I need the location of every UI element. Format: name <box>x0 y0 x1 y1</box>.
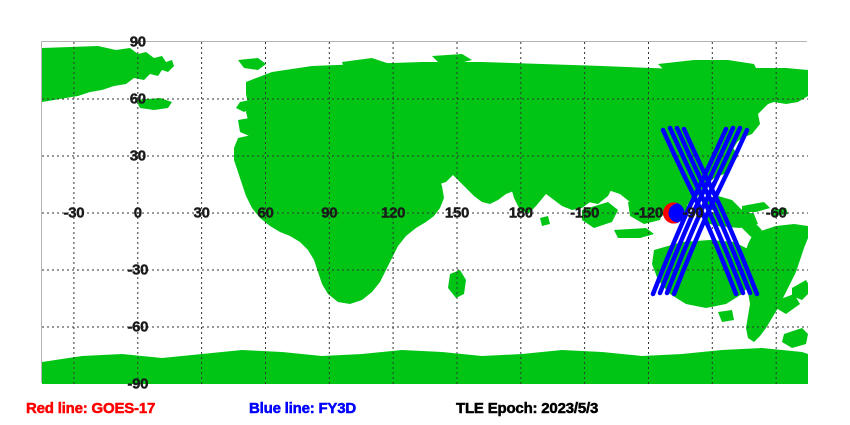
lat-tick--90: -90 <box>127 377 148 392</box>
legend-red-line-goes17: Red line: GOES-17 <box>26 401 155 416</box>
lon-tick--90: -90 <box>683 206 704 221</box>
lat-tick-90: 90 <box>130 35 146 50</box>
lat-tick-30: 30 <box>130 149 146 164</box>
goes17-marker-group <box>663 203 684 224</box>
lat-tick-60: 60 <box>130 92 146 107</box>
map-page: 90 60 30 0 -30 -60 -90 -30 30 60 90 120 … <box>0 0 850 425</box>
world-map-panel: 90 60 30 0 -30 -60 -90 -30 30 60 90 120 … <box>41 41 807 383</box>
lon-tick--150: -150 <box>570 206 599 221</box>
lat-tick-0: 0 <box>134 206 142 221</box>
legend-tle-epoch: TLE Epoch: 2023/5/3 <box>456 401 598 416</box>
lon-tick--30: -30 <box>64 206 85 221</box>
legend-blue-line-fy3d: Blue line: FY3D <box>249 401 356 416</box>
lon-tick--60: -60 <box>766 206 787 221</box>
lon-tick--120: -120 <box>634 206 663 221</box>
lat-tick--60: -60 <box>127 320 148 335</box>
lat-tick--30: -30 <box>127 263 148 278</box>
legend-bar: Red line: GOES-17 Blue line: FY3D TLE Ep… <box>0 392 850 425</box>
lon-tick-150: 150 <box>445 206 469 221</box>
lon-tick-180: 180 <box>509 206 533 221</box>
lon-tick-30: 30 <box>194 206 210 221</box>
lon-tick-120: 120 <box>381 206 405 221</box>
lon-tick-60: 60 <box>257 206 273 221</box>
lon-tick-90: 90 <box>321 206 337 221</box>
